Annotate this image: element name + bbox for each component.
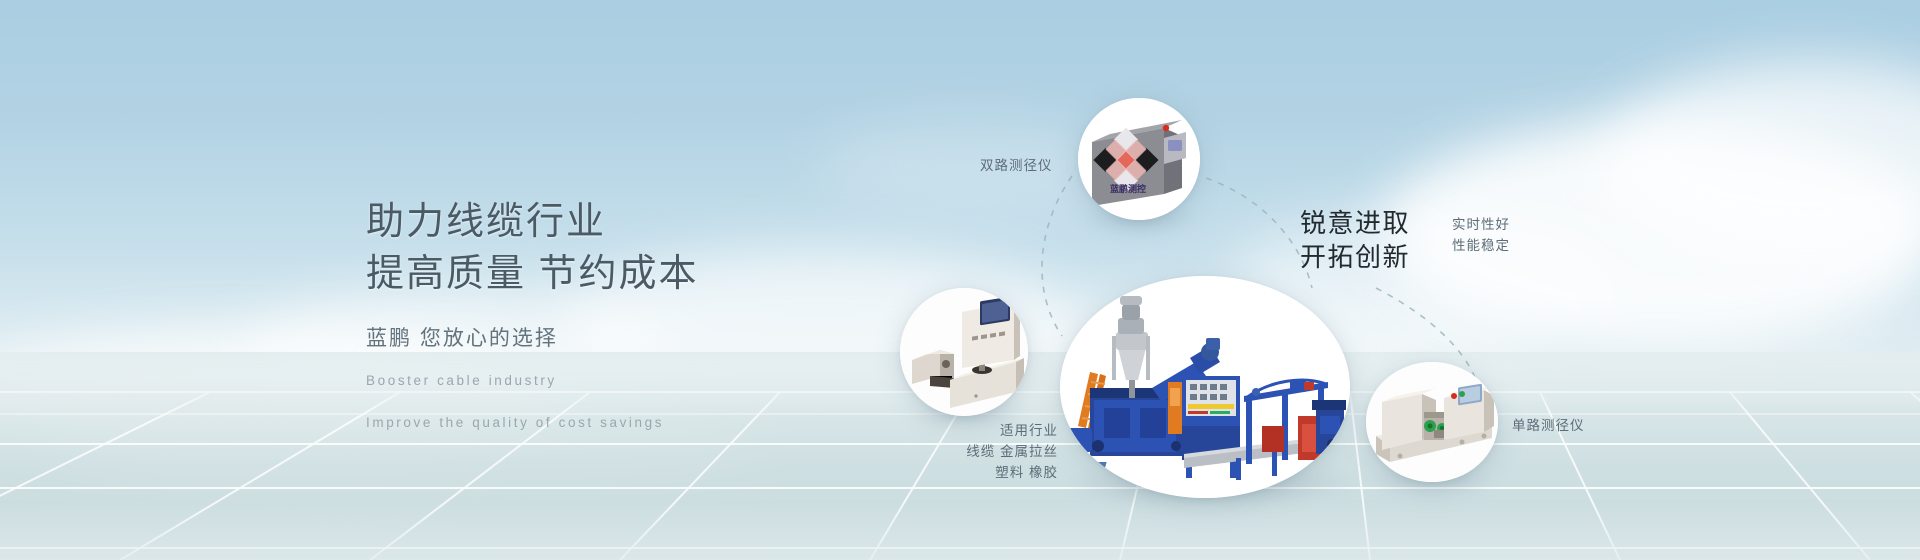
label-industries-line-2: 塑料 橡胶 <box>898 462 1058 483</box>
dual-path-diameter-gauge-icon: 蓝鹏测控 <box>1078 98 1200 220</box>
english-tagline-2: Improve the quality of cost savings <box>366 410 986 436</box>
extrusion-line-icon <box>1060 276 1350 498</box>
label-performance-line-1: 实时性好 <box>1452 214 1510 235</box>
circle-dual-gauge: 蓝鹏测控 <box>1078 98 1200 220</box>
hero-banner: 助力线缆行业 提高质量 节约成本 蓝鹏 您放心的选择 Booster cable… <box>0 0 1920 560</box>
circle-single-gauge <box>1366 362 1498 482</box>
hero-copy: 助力线缆行业 提高质量 节约成本 蓝鹏 您放心的选择 Booster cable… <box>366 196 986 436</box>
slogan-line-2: 开拓创新 <box>1300 240 1410 274</box>
label-dual-gauge: 双路测径仪 <box>980 156 1053 175</box>
label-industries-line-1: 线缆 金属拉丝 <box>898 441 1058 462</box>
headline-line-2: 提高质量 节约成本 <box>366 248 986 300</box>
single-path-diameter-gauge-icon <box>1366 362 1498 482</box>
label-industries: 适用行业 线缆 金属拉丝 塑料 橡胶 <box>898 420 1058 483</box>
circle-control-console <box>900 288 1028 416</box>
floor-bottom-fade <box>0 500 1920 560</box>
subheadline: 蓝鹏 您放心的选择 <box>366 322 986 352</box>
circle-extrusion-line <box>1060 276 1350 498</box>
headline-line-1: 助力线缆行业 <box>366 196 986 248</box>
svg-text:蓝鹏测控: 蓝鹏测控 <box>1110 183 1146 194</box>
label-single-gauge: 单路测径仪 <box>1512 416 1585 435</box>
label-performance-line-2: 性能稳定 <box>1452 235 1510 256</box>
control-console-icon <box>900 288 1028 416</box>
label-performance: 实时性好 性能稳定 <box>1452 214 1510 256</box>
slogan-block: 锐意进取 开拓创新 <box>1300 206 1410 274</box>
english-tagline-1: Booster cable industry <box>366 368 986 394</box>
slogan-line-1: 锐意进取 <box>1300 206 1410 240</box>
